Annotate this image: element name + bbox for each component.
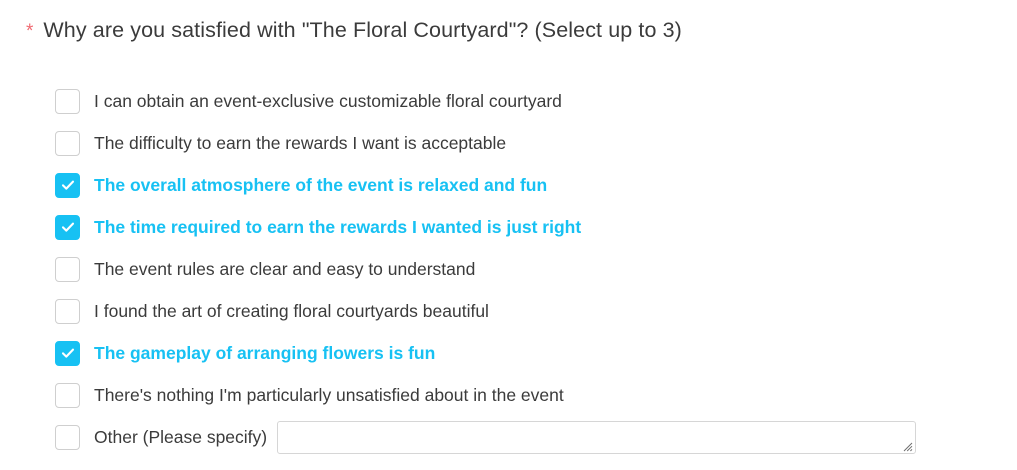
option-label-0: I can obtain an event-exclusive customiz…: [94, 90, 562, 112]
option-row-2[interactable]: The overall atmosphere of the event is r…: [55, 164, 955, 206]
checkbox-1[interactable]: [55, 131, 80, 156]
option-label-4: The event rules are clear and easy to un…: [94, 258, 475, 280]
option-row-6[interactable]: The gameplay of arranging flowers is fun: [55, 332, 955, 374]
option-label-6: The gameplay of arranging flowers is fun: [94, 342, 435, 364]
checkbox-2[interactable]: [55, 173, 80, 198]
checkbox-7[interactable]: [55, 383, 80, 408]
option-row-0[interactable]: I can obtain an event-exclusive customiz…: [55, 80, 955, 122]
option-row-4[interactable]: The event rules are clear and easy to un…: [55, 248, 955, 290]
page-title: Why are you satisfied with "The Floral C…: [43, 17, 682, 43]
checkbox-6[interactable]: [55, 341, 80, 366]
checkbox-other[interactable]: [55, 425, 80, 450]
option-label-1: The difficulty to earn the rewards I wan…: [94, 132, 506, 154]
required-asterisk: *: [26, 22, 33, 41]
option-label-other: Other (Please specify): [94, 426, 267, 448]
option-row-3[interactable]: The time required to earn the rewards I …: [55, 206, 955, 248]
option-label-5: I found the art of creating floral court…: [94, 300, 489, 322]
survey-question-block: * Why are you satisfied with "The Floral…: [0, 0, 1017, 470]
option-label-3: The time required to earn the rewards I …: [94, 216, 581, 238]
checkbox-4[interactable]: [55, 257, 80, 282]
checkbox-3[interactable]: [55, 215, 80, 240]
option-row-1[interactable]: The difficulty to earn the rewards I wan…: [55, 122, 955, 164]
options-list: I can obtain an event-exclusive customiz…: [55, 80, 955, 458]
other-input-wrapper: [277, 421, 916, 454]
option-row-7[interactable]: There's nothing I'm particularly unsatis…: [55, 374, 955, 416]
check-icon: [60, 345, 76, 361]
question-text: Why are you satisfied with "The Floral C…: [43, 18, 528, 42]
question-header: * Why are you satisfied with "The Floral…: [26, 17, 682, 43]
other-specify-input[interactable]: [277, 421, 916, 454]
check-icon: [60, 219, 76, 235]
checkbox-0[interactable]: [55, 89, 80, 114]
question-hint: (Select up to 3): [535, 18, 682, 42]
option-row-5[interactable]: I found the art of creating floral court…: [55, 290, 955, 332]
option-label-7: There's nothing I'm particularly unsatis…: [94, 384, 564, 406]
option-row-other[interactable]: Other (Please specify): [55, 416, 955, 458]
checkbox-5[interactable]: [55, 299, 80, 324]
check-icon: [60, 177, 76, 193]
option-label-2: The overall atmosphere of the event is r…: [94, 174, 547, 196]
